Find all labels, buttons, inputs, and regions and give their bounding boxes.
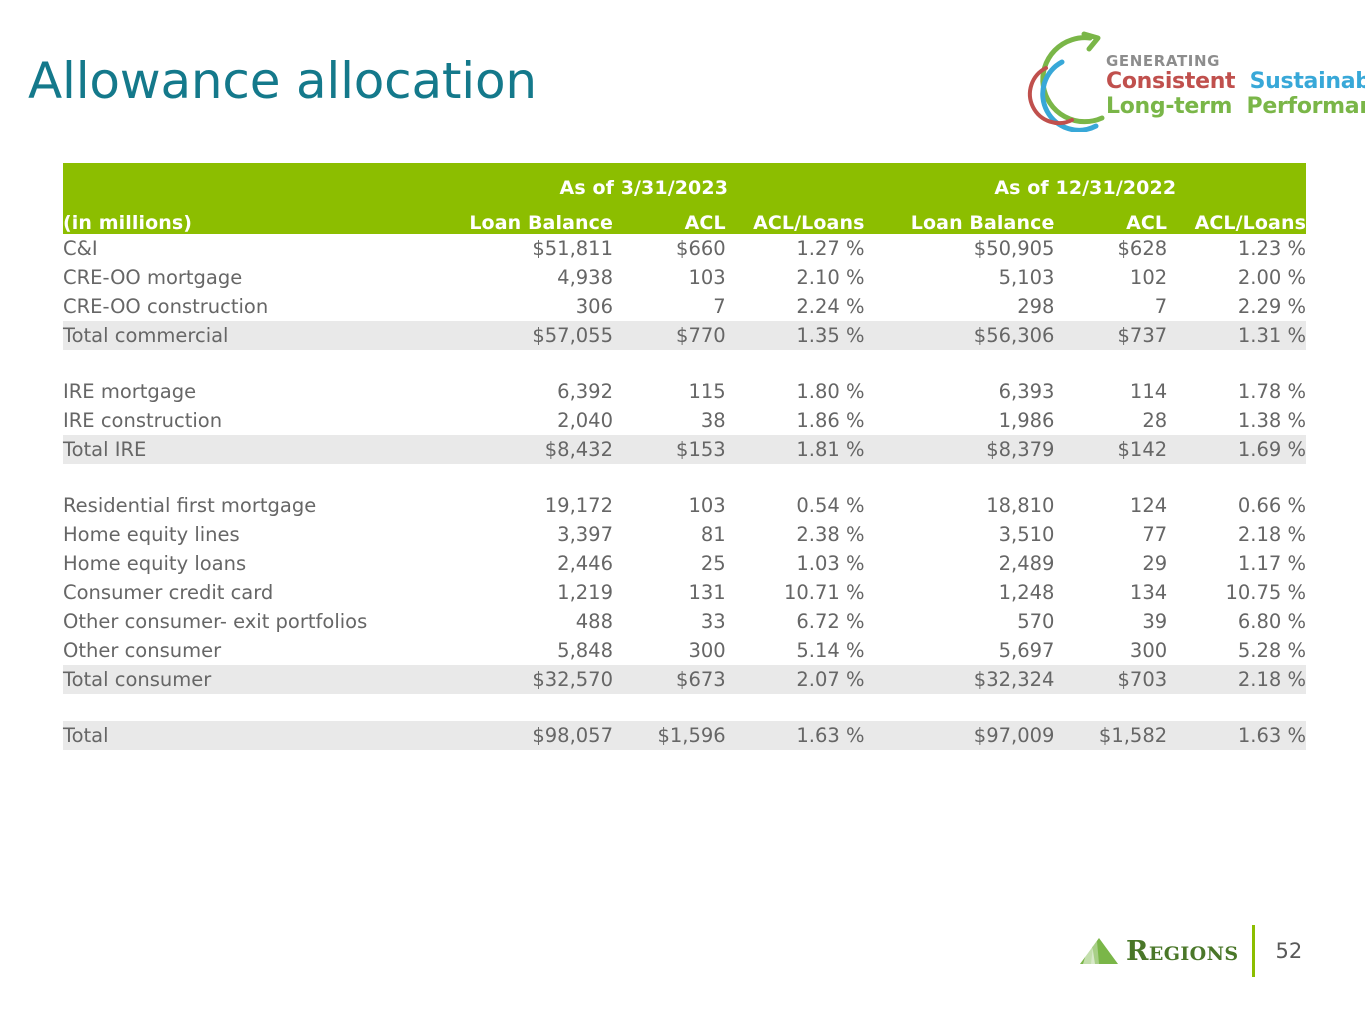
row-label: Consumer credit card bbox=[63, 578, 423, 607]
cell-acl-loans-prior: 1.17 % bbox=[1167, 549, 1306, 578]
cell-loan-balance-current: 5,848 bbox=[423, 636, 613, 665]
cell-loan-balance-prior: $8,379 bbox=[865, 435, 1055, 464]
cell-acl-loans-prior: 6.80 % bbox=[1167, 607, 1306, 636]
cell-acl-loans-prior: 0.66 % bbox=[1167, 491, 1306, 520]
column-header-unit: (in millions) bbox=[63, 199, 423, 234]
cell-acl-current: $660 bbox=[613, 234, 726, 263]
cell-acl-loans-current: 6.72 % bbox=[726, 607, 865, 636]
cell-acl-loans-prior: 1.69 % bbox=[1167, 435, 1306, 464]
row-label: Other consumer- exit portfolios bbox=[63, 607, 423, 636]
cell-acl-loans-current: 5.14 % bbox=[726, 636, 865, 665]
cell-acl-prior: 28 bbox=[1054, 406, 1167, 435]
cell-acl-loans-current: 10.71 % bbox=[726, 578, 865, 607]
cell-acl-prior: $628 bbox=[1054, 234, 1167, 263]
page-number: 52 bbox=[1275, 939, 1302, 963]
footer-divider bbox=[1252, 925, 1255, 977]
period-header-current: As of 3/31/2023 bbox=[423, 163, 864, 199]
tagline-word-consistent: Consistent bbox=[1106, 69, 1235, 94]
cell-acl-prior: $1,582 bbox=[1054, 721, 1167, 750]
cell-acl-loans-prior: 5.28 % bbox=[1167, 636, 1306, 665]
cell-loan-balance-prior: 5,103 bbox=[865, 263, 1055, 292]
cell-acl-prior: $142 bbox=[1054, 435, 1167, 464]
row-label: C&I bbox=[63, 234, 423, 263]
table-row: Other consumer- exit portfolios488336.72… bbox=[63, 607, 1306, 636]
cell-acl-loans-current: 1.27 % bbox=[726, 234, 865, 263]
cell-loan-balance-prior: 5,697 bbox=[865, 636, 1055, 665]
period-header-prior: As of 12/31/2022 bbox=[865, 163, 1307, 199]
cell-loan-balance-current: $8,432 bbox=[423, 435, 613, 464]
cell-loan-balance-current: 3,397 bbox=[423, 520, 613, 549]
row-label: CRE-OO mortgage bbox=[63, 263, 423, 292]
cell-loan-balance-current: 2,040 bbox=[423, 406, 613, 435]
cell-acl-current: 115 bbox=[613, 377, 726, 406]
cell-loan-balance-current: 6,392 bbox=[423, 377, 613, 406]
cell-loan-balance-prior: 18,810 bbox=[865, 491, 1055, 520]
cell-loan-balance-prior: 2,489 bbox=[865, 549, 1055, 578]
row-label: Residential first mortgage bbox=[63, 491, 423, 520]
cell-acl-prior: 124 bbox=[1054, 491, 1167, 520]
cell-acl-loans-current: 1.35 % bbox=[726, 321, 865, 350]
cell-acl-prior: 114 bbox=[1054, 377, 1167, 406]
column-header-acl-prior: ACL bbox=[1054, 199, 1167, 234]
row-label: Home equity lines bbox=[63, 520, 423, 549]
column-header-loan-balance-prior: Loan Balance bbox=[865, 199, 1055, 234]
cell-loan-balance-current: $98,057 bbox=[423, 721, 613, 750]
cell-acl-loans-prior: 1.78 % bbox=[1167, 377, 1306, 406]
cell-acl-loans-prior: 1.23 % bbox=[1167, 234, 1306, 263]
table-row: IRE mortgage6,3921151.80 %6,3931141.78 % bbox=[63, 377, 1306, 406]
column-header-row: (in millions) Loan Balance ACL ACL/Loans… bbox=[63, 199, 1306, 234]
row-label: Total consumer bbox=[63, 665, 423, 694]
cell-loan-balance-prior: 570 bbox=[865, 607, 1055, 636]
cell-acl-current: $770 bbox=[613, 321, 726, 350]
row-label: Other consumer bbox=[63, 636, 423, 665]
cell-loan-balance-current: 4,938 bbox=[423, 263, 613, 292]
tagline-line-generating: GENERATING bbox=[1106, 52, 1220, 70]
table-total-row: Total commercial$57,055$7701.35 %$56,306… bbox=[63, 321, 1306, 350]
cell-acl-loans-prior: 2.18 % bbox=[1167, 665, 1306, 694]
generating-tagline-logo: GENERATING Consistent Sustainable Long-t… bbox=[1018, 24, 1323, 132]
cell-acl-current: 38 bbox=[613, 406, 726, 435]
cell-loan-balance-current: $57,055 bbox=[423, 321, 613, 350]
period-header-spacer bbox=[63, 163, 423, 199]
table-row: IRE construction2,040381.86 %1,986281.38… bbox=[63, 406, 1306, 435]
cell-acl-current: 7 bbox=[613, 292, 726, 321]
cell-acl-current: 131 bbox=[613, 578, 726, 607]
cell-acl-loans-prior: 1.63 % bbox=[1167, 721, 1306, 750]
row-label: IRE construction bbox=[63, 406, 423, 435]
cell-loan-balance-current: 1,219 bbox=[423, 578, 613, 607]
column-header-acl-loans-prior: ACL/Loans bbox=[1167, 199, 1306, 234]
cell-acl-prior: $703 bbox=[1054, 665, 1167, 694]
tagline-line-three: Long-term Performance bbox=[1106, 94, 1365, 119]
cell-loan-balance-current: 306 bbox=[423, 292, 613, 321]
footer-brand: Regions 52 bbox=[1078, 925, 1302, 977]
cell-loan-balance-prior: $97,009 bbox=[865, 721, 1055, 750]
tagline-word-sustainable: Sustainable bbox=[1250, 69, 1365, 94]
table-spacer-row bbox=[63, 694, 1306, 721]
row-label: CRE-OO construction bbox=[63, 292, 423, 321]
cell-loan-balance-prior: 1,248 bbox=[865, 578, 1055, 607]
cell-loan-balance-current: 19,172 bbox=[423, 491, 613, 520]
table-total-row: Total IRE$8,432$1531.81 %$8,379$1421.69 … bbox=[63, 435, 1306, 464]
table-spacer-row bbox=[63, 350, 1306, 377]
table-spacer-cell bbox=[63, 464, 1306, 491]
row-label: Home equity loans bbox=[63, 549, 423, 578]
table-row: CRE-OO mortgage4,9381032.10 %5,1031022.0… bbox=[63, 263, 1306, 292]
regions-pyramid-icon bbox=[1078, 936, 1120, 966]
cell-acl-loans-current: 1.81 % bbox=[726, 435, 865, 464]
tagline-line-two: Consistent Sustainable bbox=[1106, 69, 1365, 94]
cell-acl-loans-current: 1.63 % bbox=[726, 721, 865, 750]
cell-acl-current: $673 bbox=[613, 665, 726, 694]
cell-acl-loans-current: 2.07 % bbox=[726, 665, 865, 694]
column-header-loan-balance-current: Loan Balance bbox=[423, 199, 613, 234]
row-label: Total IRE bbox=[63, 435, 423, 464]
cell-acl-current: $1,596 bbox=[613, 721, 726, 750]
cell-acl-current: $153 bbox=[613, 435, 726, 464]
cell-acl-prior: 102 bbox=[1054, 263, 1167, 292]
cell-acl-loans-prior: 2.29 % bbox=[1167, 292, 1306, 321]
cell-loan-balance-current: 2,446 bbox=[423, 549, 613, 578]
tagline-word-longterm: Long-term bbox=[1106, 94, 1232, 119]
cell-acl-current: 33 bbox=[613, 607, 726, 636]
table-total-row: Total consumer$32,570$6732.07 %$32,324$7… bbox=[63, 665, 1306, 694]
table-row: Consumer credit card1,21913110.71 %1,248… bbox=[63, 578, 1306, 607]
column-header-acl-loans-current: ACL/Loans bbox=[726, 199, 865, 234]
cell-acl-prior: $737 bbox=[1054, 321, 1167, 350]
cell-acl-current: 25 bbox=[613, 549, 726, 578]
cell-acl-loans-prior: 2.00 % bbox=[1167, 263, 1306, 292]
cell-acl-loans-current: 2.24 % bbox=[726, 292, 865, 321]
cell-loan-balance-prior: 3,510 bbox=[865, 520, 1055, 549]
cell-acl-loans-prior: 10.75 % bbox=[1167, 578, 1306, 607]
table-spacer-cell bbox=[63, 694, 1306, 721]
cell-acl-current: 103 bbox=[613, 263, 726, 292]
cell-acl-loans-current: 2.10 % bbox=[726, 263, 865, 292]
cell-acl-loans-prior: 1.38 % bbox=[1167, 406, 1306, 435]
cell-acl-loans-current: 1.80 % bbox=[726, 377, 865, 406]
cell-acl-loans-current: 1.86 % bbox=[726, 406, 865, 435]
table-total-row: Total$98,057$1,5961.63 %$97,009$1,5821.6… bbox=[63, 721, 1306, 750]
cell-acl-current: 300 bbox=[613, 636, 726, 665]
cell-acl-loans-current: 0.54 % bbox=[726, 491, 865, 520]
table-row: Residential first mortgage19,1721030.54 … bbox=[63, 491, 1306, 520]
table-body: C&I$51,811$6601.27 %$50,905$6281.23 %CRE… bbox=[63, 234, 1306, 750]
cell-acl-loans-current: 2.38 % bbox=[726, 520, 865, 549]
row-label: Total bbox=[63, 721, 423, 750]
cell-loan-balance-prior: 298 bbox=[865, 292, 1055, 321]
cell-acl-loans-prior: 2.18 % bbox=[1167, 520, 1306, 549]
table-row: Home equity lines3,397812.38 %3,510772.1… bbox=[63, 520, 1306, 549]
row-label: Total commercial bbox=[63, 321, 423, 350]
cell-acl-prior: 77 bbox=[1054, 520, 1167, 549]
cell-acl-loans-current: 1.03 % bbox=[726, 549, 865, 578]
cell-loan-balance-current: $51,811 bbox=[423, 234, 613, 263]
table-spacer-row bbox=[63, 464, 1306, 491]
cell-loan-balance-current: $32,570 bbox=[423, 665, 613, 694]
table-row: C&I$51,811$6601.27 %$50,905$6281.23 % bbox=[63, 234, 1306, 263]
table-row: Home equity loans2,446251.03 %2,489291.1… bbox=[63, 549, 1306, 578]
row-label: IRE mortgage bbox=[63, 377, 423, 406]
table-header: As of 3/31/2023 As of 12/31/2022 (in mil… bbox=[63, 163, 1306, 234]
cell-acl-prior: 39 bbox=[1054, 607, 1167, 636]
cell-acl-prior: 7 bbox=[1054, 292, 1167, 321]
cell-loan-balance-prior: 1,986 bbox=[865, 406, 1055, 435]
allowance-allocation-table: As of 3/31/2023 As of 12/31/2022 (in mil… bbox=[63, 163, 1306, 750]
cell-acl-loans-prior: 1.31 % bbox=[1167, 321, 1306, 350]
tagline-word-performance: Performance bbox=[1247, 94, 1365, 119]
cell-acl-prior: 300 bbox=[1054, 636, 1167, 665]
cell-acl-prior: 29 bbox=[1054, 549, 1167, 578]
cell-acl-prior: 134 bbox=[1054, 578, 1167, 607]
cell-loan-balance-prior: 6,393 bbox=[865, 377, 1055, 406]
cell-loan-balance-prior: $50,905 bbox=[865, 234, 1055, 263]
page-title: Allowance allocation bbox=[28, 52, 537, 110]
column-header-acl-current: ACL bbox=[613, 199, 726, 234]
table-row: CRE-OO construction30672.24 %29872.29 % bbox=[63, 292, 1306, 321]
regions-wordmark: Regions bbox=[1126, 936, 1238, 967]
period-header-row: As of 3/31/2023 As of 12/31/2022 bbox=[63, 163, 1306, 199]
cell-loan-balance-current: 488 bbox=[423, 607, 613, 636]
cell-loan-balance-prior: $32,324 bbox=[865, 665, 1055, 694]
table-row: Other consumer5,8483005.14 %5,6973005.28… bbox=[63, 636, 1306, 665]
cell-loan-balance-prior: $56,306 bbox=[865, 321, 1055, 350]
cell-acl-current: 81 bbox=[613, 520, 726, 549]
cell-acl-current: 103 bbox=[613, 491, 726, 520]
table-spacer-cell bbox=[63, 350, 1306, 377]
